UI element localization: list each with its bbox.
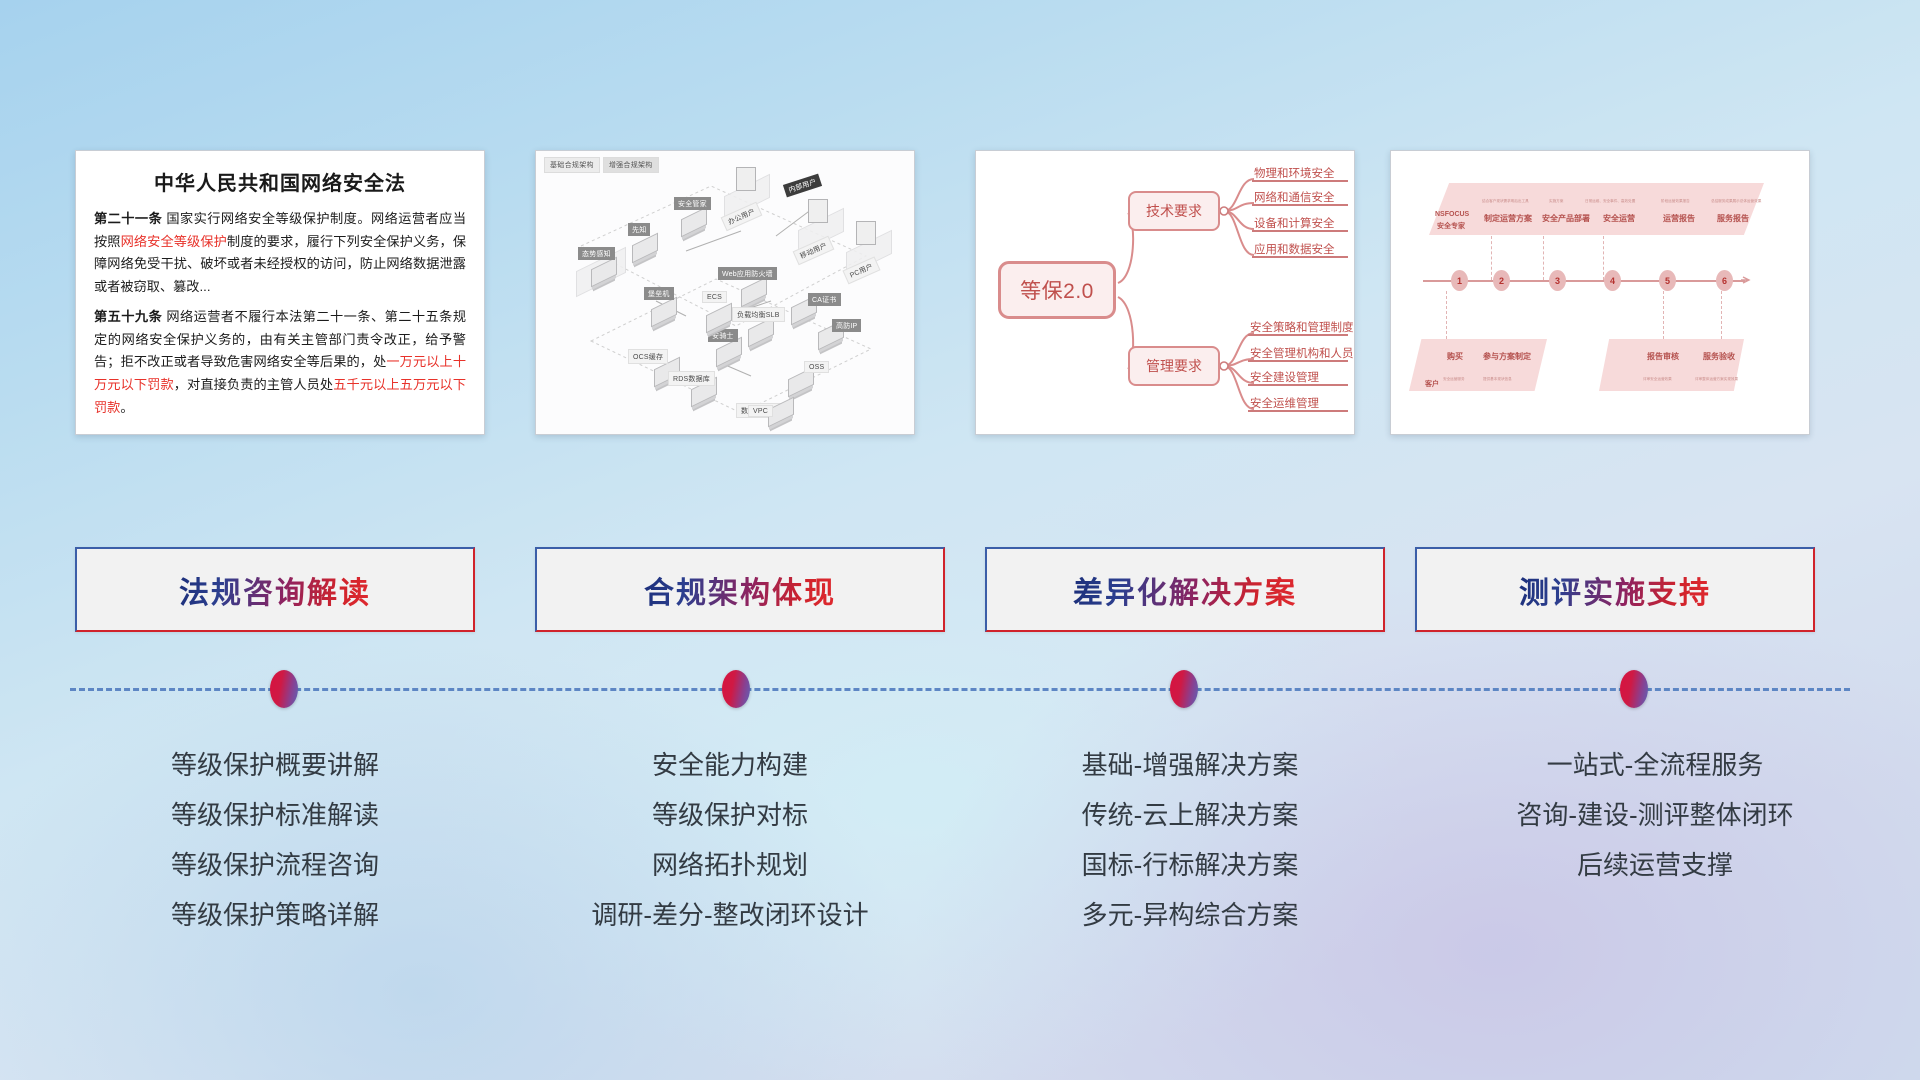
- node-label-load-balancer: 负载均衡SLB: [732, 307, 785, 322]
- list-item: 等级保护标准解读: [40, 790, 510, 840]
- mindmap-underline: [1248, 410, 1348, 412]
- title-bar-differentiated-solution[interactable]: 差异化解决方案: [985, 547, 1385, 632]
- law-title: 中华人民共和国网络安全法: [94, 167, 466, 196]
- timeline-step-dot-5[interactable]: 5: [1659, 270, 1676, 291]
- timeline-top-step-3: 安全运营: [1603, 213, 1635, 224]
- timeline-bottom-band-right: [1599, 339, 1744, 391]
- nsfocus-expert-label-2: 安全专家: [1437, 221, 1465, 231]
- timeline-connector-3: [1543, 236, 1544, 280]
- title-text-2: 合规架构体现: [644, 568, 836, 612]
- timeline-step-dot-3[interactable]: 3: [1549, 270, 1566, 291]
- node-shape-office-user: [736, 167, 756, 191]
- mindmap-underline: [1252, 180, 1348, 182]
- article-59-label: 第五十九条: [94, 309, 162, 324]
- timeline-top-step-4: 运营报告: [1663, 213, 1695, 224]
- node-shape-mobile-user: [808, 199, 828, 223]
- article-59-part3: 。: [120, 400, 133, 415]
- node-label-vpc: VPC: [748, 405, 773, 417]
- mindmap-underline: [1252, 204, 1348, 206]
- timeline-node-2[interactable]: [722, 670, 750, 708]
- card-mindmap-dengbao[interactable]: 等保2.0 技术要求 管理要求 物理和环境安全 网络和通信安全 设备和计算安全 …: [975, 150, 1355, 435]
- timeline-bottom-sub-4: 评审整体运营方案实现效果: [1695, 377, 1738, 382]
- timeline-step-dot-2[interactable]: 2: [1493, 270, 1510, 291]
- timeline-bottom-sub-1: 安全运营服务: [1443, 377, 1465, 382]
- mindmap-underline: [1252, 230, 1348, 232]
- timeline-connector-2: [1491, 236, 1492, 280]
- title-bar-evaluation-support[interactable]: 测评实施支持: [1415, 547, 1815, 632]
- node-label-ca-certificate: CA证书: [808, 293, 841, 306]
- timeline-top-sub-4: 阶段运营效果报告: [1661, 199, 1690, 204]
- list-item: 咨询-建设-测评整体闭环: [1420, 790, 1890, 840]
- list-item: 一站式-全流程服务: [1420, 740, 1890, 790]
- list-item: 等级保护概要讲解: [40, 740, 510, 790]
- nsfocus-timeline: NSFOCUS 安全专家 客户 结合客户现状需求明后出工具 制定运营方案 实施方…: [1391, 151, 1809, 434]
- list-item: 多元-异构综合方案: [955, 890, 1425, 940]
- mindmap-underline: [1248, 360, 1348, 362]
- timeline-axis: [1423, 280, 1745, 282]
- node-label-ecs: ECS: [702, 291, 727, 303]
- process-timeline: [70, 688, 1850, 690]
- timeline-top-sub-5: 总结服务成果展示总体运营效果: [1711, 199, 1761, 204]
- section-title-row: 法规咨询解读 合规架构体现 差异化解决方案 测评实施支持: [0, 547, 1920, 637]
- title-text-4: 测评实施支持: [1519, 568, 1711, 612]
- list-item: 调研-差分-整改闭环设计: [495, 890, 965, 940]
- article-59-part2: ，对直接负责的主管人员处: [174, 377, 333, 392]
- nsfocus-expert-label-1: NSFOCUS: [1435, 211, 1469, 218]
- nsfocus-customer-label: 客户: [1425, 379, 1439, 389]
- timeline-node-3[interactable]: [1170, 670, 1198, 708]
- architecture-diagram: 基础合规架构 增强合规架构 态势感知 先知: [536, 151, 914, 434]
- list-item: 后续运营支撑: [1420, 840, 1890, 890]
- list-item: 等级保护对标: [495, 790, 965, 840]
- node-label-oss: OSS: [804, 361, 829, 373]
- timeline-dashed-line: [70, 688, 1850, 691]
- list-item: 等级保护流程咨询: [40, 840, 510, 890]
- timeline-connector-4: [1603, 236, 1604, 280]
- detail-column-2: 安全能力构建 等级保护对标 网络拓扑规划 调研-差分-整改闭环设计: [495, 740, 965, 940]
- mindmap-underline: [1252, 256, 1348, 258]
- mindmap-branch-technical[interactable]: 技术要求: [1128, 191, 1220, 231]
- node-label-bastion-host: 堡垒机: [644, 287, 674, 300]
- mindmap-underline: [1248, 334, 1348, 336]
- timeline-connector-5: [1663, 291, 1664, 339]
- timeline-top-step-1: 制定运营方案: [1484, 213, 1532, 224]
- timeline-top-sub-1: 结合客户现状需求明后出工具: [1482, 199, 1529, 204]
- detail-column-1: 等级保护概要讲解 等级保护标准解读 等级保护流程咨询 等级保护策略详解: [40, 740, 510, 940]
- list-item: 基础-增强解决方案: [955, 740, 1425, 790]
- mindmap-underline: [1248, 384, 1348, 386]
- card-nsfocus-service-timeline[interactable]: NSFOCUS 安全专家 客户 结合客户现状需求明后出工具 制定运营方案 实施方…: [1390, 150, 1810, 435]
- law-article-21: 第二十一条 国家实行网络安全等级保护制度。网络运营者应当按照网络安全等级保护制度…: [94, 208, 466, 299]
- timeline-bottom-step-4: 服务验收: [1703, 351, 1735, 362]
- node-label-xianzhi: 先知: [628, 223, 650, 236]
- timeline-bottom-sub-3: 评审安全运营效果: [1643, 377, 1672, 382]
- node-label-ocs-cache: OCS缓存: [628, 349, 668, 364]
- title-bar-compliance-architecture[interactable]: 合规架构体现: [535, 547, 945, 632]
- node-label-security-steward: 安全管家: [674, 197, 711, 210]
- timeline-top-step-5: 服务报告: [1717, 213, 1749, 224]
- timeline-node-1[interactable]: [270, 670, 298, 708]
- timeline-top-sub-3: 日常运维、安全事件、高效处置: [1585, 199, 1635, 204]
- timeline-bottom-step-1: 购买: [1447, 351, 1463, 362]
- article-21-label: 第二十一条: [94, 211, 162, 226]
- list-item: 等级保护策略详解: [40, 890, 510, 940]
- image-card-row: 中华人民共和国网络安全法 第二十一条 国家实行网络安全等级保护制度。网络运营者应…: [0, 150, 1920, 440]
- timeline-connector-6: [1721, 291, 1722, 339]
- timeline-bottom-sub-2: 提供基本现状信息: [1483, 377, 1512, 382]
- timeline-node-4[interactable]: [1620, 670, 1648, 708]
- card-cybersecurity-law[interactable]: 中华人民共和国网络安全法 第二十一条 国家实行网络安全等级保护制度。网络运营者应…: [75, 150, 485, 435]
- node-shape-pc-user: [856, 221, 876, 245]
- article-21-highlight: 网络安全等级保护: [121, 234, 227, 249]
- node-label-anqishi: 安骑士: [708, 329, 738, 342]
- list-item: 传统-云上解决方案: [955, 790, 1425, 840]
- node-label-rds-db: RDS数据库: [668, 371, 715, 386]
- timeline-step-dot-1[interactable]: 1: [1451, 270, 1468, 291]
- mindmap-branch-management[interactable]: 管理要求: [1128, 346, 1220, 386]
- node-label-anti-ddos-ip: 高防IP: [832, 319, 861, 332]
- timeline-step-dot-6[interactable]: 6: [1716, 270, 1733, 291]
- timeline-bottom-step-2: 参与方案制定: [1483, 351, 1531, 362]
- detail-column-4: 一站式-全流程服务 咨询-建设-测评整体闭环 后续运营支撑: [1420, 740, 1890, 890]
- timeline-connector-1: [1446, 291, 1447, 339]
- detail-column-3: 基础-增强解决方案 传统-云上解决方案 国标-行标解决方案 多元-异构综合方案: [955, 740, 1425, 940]
- list-item: 安全能力构建: [495, 740, 965, 790]
- title-text-3: 差异化解决方案: [1073, 568, 1297, 612]
- list-item: 网络拓扑规划: [495, 840, 965, 890]
- timeline-bottom-step-3: 报告审核: [1647, 351, 1679, 362]
- timeline-step-dot-4[interactable]: 4: [1604, 270, 1621, 291]
- node-label-web-firewall: Web应用防火墙: [718, 267, 777, 280]
- node-label-situational-awareness: 态势感知: [578, 247, 615, 260]
- title-text-1: 法规咨询解读: [179, 568, 371, 612]
- timeline-top-step-2: 安全产品部署: [1542, 213, 1590, 224]
- timeline-top-band: [1429, 183, 1764, 235]
- list-item: 国标-行标解决方案: [955, 840, 1425, 890]
- title-bar-regulation-consulting[interactable]: 法规咨询解读: [75, 547, 475, 632]
- law-text-block: 中华人民共和国网络安全法 第二十一条 国家实行网络安全等级保护制度。网络运营者应…: [76, 151, 484, 429]
- law-article-59: 第五十九条 网络运营者不履行本法第二十一条、第二十五条规定的网络安全保护义务的，…: [94, 306, 466, 420]
- mindmap-root-node[interactable]: 等保2.0: [998, 261, 1116, 319]
- timeline-top-sub-2: 实施方案: [1549, 199, 1563, 204]
- mindmap: 等保2.0 技术要求 管理要求 物理和环境安全 网络和通信安全 设备和计算安全 …: [976, 151, 1354, 434]
- card-compliance-architecture[interactable]: 基础合规架构 增强合规架构 态势感知 先知: [535, 150, 915, 435]
